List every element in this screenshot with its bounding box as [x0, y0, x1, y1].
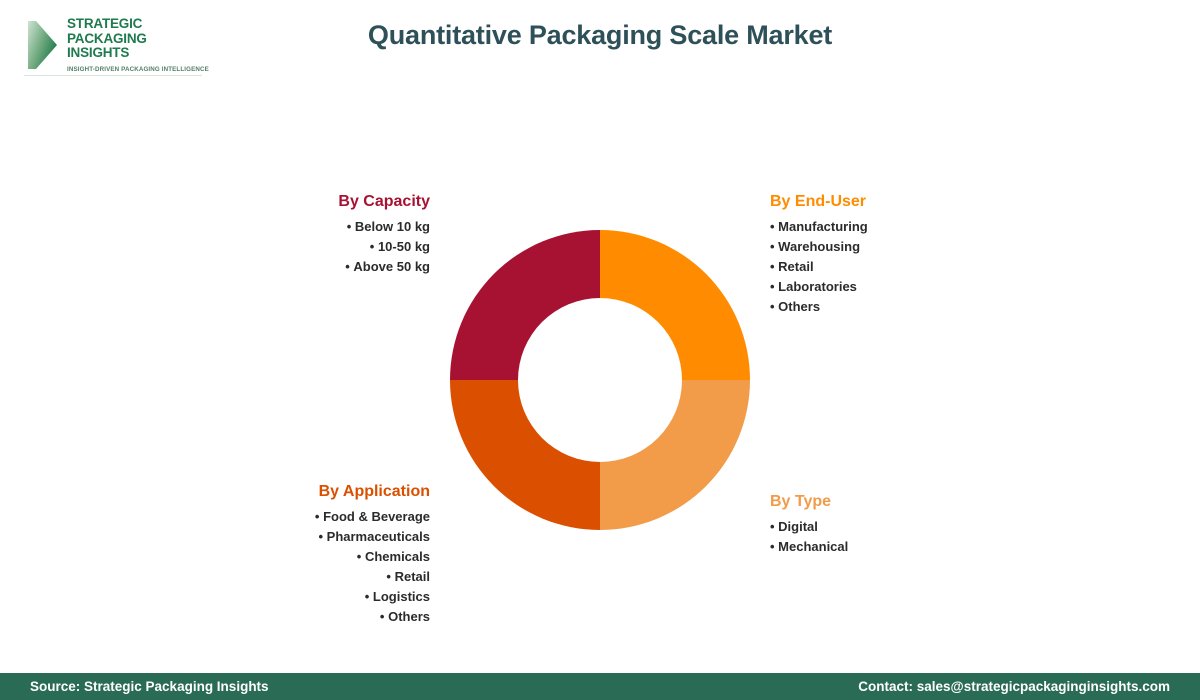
list-item: Retail — [230, 567, 430, 587]
segment-type-list: Digital Mechanical — [770, 517, 990, 557]
list-item: Below 10 kg — [230, 217, 430, 237]
segment-application-list: Food & Beverage Pharmaceuticals Chemical… — [230, 507, 430, 627]
list-item: Food & Beverage — [230, 507, 430, 527]
segment-type: By Type Digital Mechanical — [770, 493, 990, 557]
list-item: 10-50 kg — [230, 237, 430, 257]
donut-chart — [450, 230, 750, 530]
list-item: Logistics — [230, 587, 430, 607]
footer-source: Source: Strategic Packaging Insights — [30, 679, 269, 694]
list-item: Digital — [770, 517, 990, 537]
segment-capacity-title: By Capacity — [230, 193, 430, 211]
list-item: Laboratories — [770, 277, 990, 297]
list-item: Others — [770, 297, 990, 317]
segment-type-title: By Type — [770, 493, 990, 511]
footer-contact: Contact: sales@strategicpackaginginsight… — [858, 679, 1170, 694]
segment-enduser: By End-User Manufacturing Warehousing Re… — [770, 193, 990, 317]
segment-enduser-list: Manufacturing Warehousing Retail Laborat… — [770, 217, 990, 317]
segment-capacity: By Capacity Below 10 kg 10-50 kg Above 5… — [230, 193, 430, 277]
list-item: Warehousing — [770, 237, 990, 257]
segment-application-title: By Application — [230, 483, 430, 501]
logo-divider — [24, 75, 202, 76]
list-item: Retail — [770, 257, 990, 277]
page-title: Quantitative Packaging Scale Market — [0, 20, 1200, 51]
footer-bar: Source: Strategic Packaging Insights Con… — [0, 673, 1200, 700]
list-item: Chemicals — [230, 547, 430, 567]
segment-enduser-title: By End-User — [770, 193, 990, 211]
infographic-page: STRATEGIC PACKAGING INSIGHTS INSIGHT-DRI… — [0, 0, 1200, 700]
list-item: Pharmaceuticals — [230, 527, 430, 547]
list-item: Mechanical — [770, 537, 990, 557]
segment-capacity-list: Below 10 kg 10-50 kg Above 50 kg — [230, 217, 430, 277]
logo-tagline: INSIGHT-DRIVEN PACKAGING INTELLIGENCE — [67, 66, 209, 73]
list-item: Others — [230, 607, 430, 627]
list-item: Manufacturing — [770, 217, 990, 237]
segment-application: By Application Food & Beverage Pharmaceu… — [230, 483, 430, 627]
list-item: Above 50 kg — [230, 257, 430, 277]
donut-center-hole — [518, 298, 682, 462]
